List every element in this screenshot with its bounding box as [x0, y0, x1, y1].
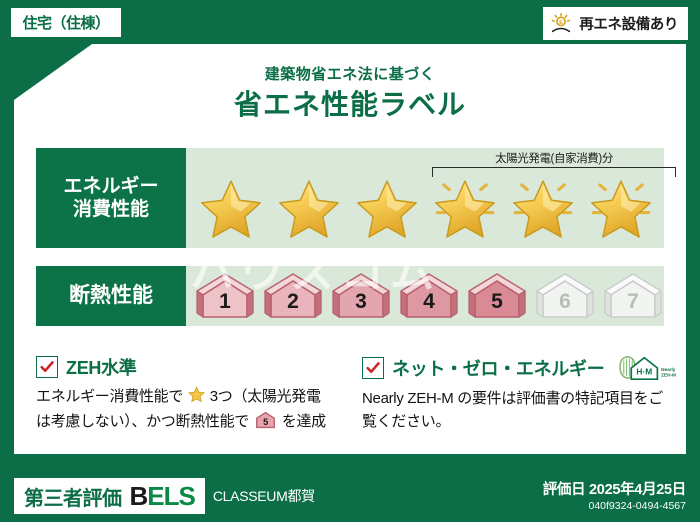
- evaluation-date-label: 評価日: [543, 482, 586, 498]
- zeh-standard-title: ZEH水準: [66, 354, 137, 380]
- zeh-standard-description: エネルギー消費性能で 3つ（太陽光発電 は考慮しない）、かつ断熱性能で 5 を達…: [36, 386, 348, 437]
- energy-star-3: [348, 172, 426, 244]
- building-type-tag: 住宅（住棟）: [10, 7, 122, 38]
- insulation-performance-header: 断熱性能: [36, 266, 186, 326]
- insulation-grade-2: 2: [260, 270, 326, 322]
- insulation-grade-number: 4: [423, 290, 435, 314]
- checkmark-icon: [362, 357, 384, 379]
- insulation-grade-number: 6: [559, 290, 571, 314]
- inline-grade-icon: 5: [251, 416, 280, 433]
- evaluation-date: 評価日 2025年4月25日: [543, 478, 686, 499]
- net-zero-energy-title: ネット・ゼロ・エネルギー: [392, 355, 604, 381]
- zeh-desc-part3: は考慮しない）、かつ断熱性能で: [36, 413, 249, 430]
- insulation-grade-7: 7: [600, 270, 666, 322]
- insulation-grade-number: 5: [491, 290, 503, 314]
- energy-star-4: [426, 172, 504, 244]
- zeh-standard-header: ZEH水準: [36, 354, 348, 380]
- renewable-badge-label: 再エネ設備あり: [579, 13, 678, 34]
- insulation-grade-number: 7: [627, 290, 639, 314]
- label-subtitle: 建築物省エネ法に基づく: [0, 63, 700, 84]
- energy-performance-header: エネルギー 消費性能: [36, 148, 186, 248]
- svg-text:5: 5: [263, 417, 268, 427]
- insulation-performance-body: 1234567: [186, 266, 664, 326]
- insulation-header-label: 断熱性能: [69, 283, 153, 309]
- bels-logo: BELS: [130, 481, 195, 512]
- property-name: CLASSEUM都賀: [213, 486, 315, 506]
- energy-header-line1: エネルギー: [63, 175, 158, 198]
- bels-logo-b: B: [130, 481, 148, 511]
- insulation-grade-1: 1: [192, 270, 258, 322]
- net-zero-energy-header: ネット・ゼロ・エネルギー H·M Nearly ZEH-M: [362, 354, 672, 382]
- svg-text:E: E: [559, 20, 563, 26]
- footer-left: 第三者評価 BELS CLASSEUM都賀: [14, 478, 315, 514]
- footer-right: 評価日 2025年4月25日 040f9324-0494-4567: [543, 478, 686, 512]
- zeh-desc-part4: を達成: [282, 413, 326, 430]
- zeh-m-logo-sub2: ZEH-M: [662, 372, 677, 377]
- energy-star-6: [582, 172, 660, 244]
- bels-certification-badge: 第三者評価 BELS: [14, 478, 205, 514]
- energy-star-rating: [186, 172, 664, 244]
- energy-star-5: [504, 172, 582, 244]
- insulation-grade-number: 2: [287, 290, 299, 314]
- energy-star-1: [192, 172, 270, 244]
- insulation-grade-4: 4: [396, 270, 462, 322]
- checkmark-icon: [36, 356, 58, 378]
- solar-bracket: [432, 167, 676, 177]
- zeh-desc-part2: 3つ（太陽光発電: [210, 388, 321, 405]
- insulation-grade-6: 6: [532, 270, 598, 322]
- energy-performance-row: エネルギー 消費性能 太陽光発電(自家消費)分: [36, 148, 664, 248]
- insulation-performance-row: 断熱性能 1234567: [36, 266, 664, 326]
- evaluation-date-value: 2025年4月25日: [589, 482, 686, 498]
- inline-star-icon: [184, 390, 209, 407]
- insulation-grade-number: 1: [219, 290, 231, 314]
- nearly-zeh-m-logo-icon: H·M Nearly ZEH-M: [616, 354, 682, 382]
- net-zero-energy-block: ネット・ゼロ・エネルギー H·M Nearly ZEH-M Nea: [362, 354, 672, 434]
- energy-performance-label: 住宅（住棟） E 再エネ設備あり 建築物省エネ法に基づく 省エネ性能ラベル: [0, 0, 700, 522]
- sun-renewable-icon: E: [549, 12, 573, 36]
- energy-performance-body: 太陽光発電(自家消費)分: [186, 148, 664, 248]
- evaluation-id: 040f9324-0494-4567: [543, 500, 686, 512]
- insulation-grade-number: 3: [355, 290, 367, 314]
- zeh-standard-block: ZEH水準 エネルギー消費性能で 3つ（太陽光発電 は考慮しない）、かつ断熱性能…: [36, 354, 348, 437]
- energy-header-line2: 消費性能: [73, 198, 149, 221]
- insulation-grade-5: 5: [464, 270, 530, 322]
- energy-star-2: [270, 172, 348, 244]
- third-party-evaluation-label: 第三者評価: [24, 482, 122, 511]
- zeh-desc-part1: エネルギー消費性能で: [36, 388, 183, 405]
- zeh-m-logo-sub1: Nearly: [662, 367, 677, 372]
- renewable-equipment-badge: E 再エネ設備あり: [543, 7, 688, 40]
- page-title: 省エネ性能ラベル: [0, 83, 700, 123]
- insulation-grade-scale: 1234567: [192, 270, 666, 322]
- net-zero-energy-description: Nearly ZEH-M の要件は評価書の特記項目をご覧ください。: [362, 388, 672, 434]
- solar-generation-note: 太陽光発電(自家消費)分: [434, 150, 674, 166]
- building-type-tag-label: 住宅（住棟）: [22, 12, 109, 33]
- zeh-m-logo-text: H·M: [637, 367, 653, 377]
- bels-logo-els: ELS: [147, 481, 195, 511]
- insulation-grade-3: 3: [328, 270, 394, 322]
